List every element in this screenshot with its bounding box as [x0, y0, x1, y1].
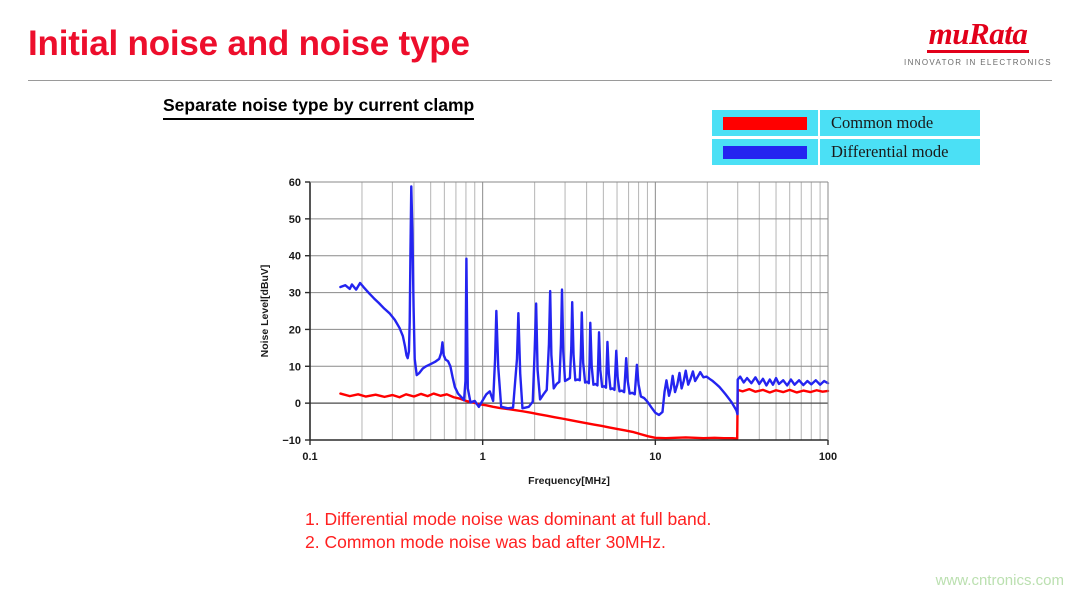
murata-logo: muRata INNOVATOR IN ELECTRONICS: [898, 18, 1058, 67]
svg-text:Noise Level[dBuV]: Noise Level[dBuV]: [259, 265, 271, 358]
svg-text:30: 30: [289, 288, 301, 300]
finding-2: 2. Common mode noise was bad after 30MHz…: [305, 531, 711, 554]
svg-text:10: 10: [289, 361, 301, 373]
slide-root: Initial noise and noise type muRata INNO…: [0, 0, 1080, 597]
svg-text:40: 40: [289, 251, 301, 263]
svg-text:1: 1: [480, 451, 486, 463]
svg-text:20: 20: [289, 324, 301, 336]
svg-text:100: 100: [819, 451, 837, 463]
site-watermark: www.cntronics.com: [936, 572, 1064, 589]
legend-label-common-mode: Common mode: [820, 113, 933, 133]
logo-wordmark: muRata: [927, 18, 1030, 53]
legend-swatch-differential-mode: [723, 146, 807, 159]
legend-swatch-cell: [712, 139, 820, 165]
svg-text:50: 50: [289, 214, 301, 226]
svg-text:60: 60: [289, 177, 301, 189]
svg-text:0: 0: [295, 398, 301, 410]
chart-legend: Common mode Differential mode: [712, 110, 980, 168]
svg-text:−10: −10: [282, 435, 301, 447]
title-divider: [28, 80, 1052, 81]
svg-text:Frequency[MHz]: Frequency[MHz]: [528, 475, 610, 486]
svg-text:0.1: 0.1: [302, 451, 317, 463]
noise-spectrum-chart: 6050403020100−100.1110100Frequency[MHz]N…: [252, 166, 842, 486]
section-subtitle: Separate noise type by current clamp: [163, 95, 474, 120]
legend-item-differential-mode: Differential mode: [712, 139, 980, 165]
page-title: Initial noise and noise type: [28, 24, 470, 64]
finding-1: 1. Differential mode noise was dominant …: [305, 508, 711, 531]
svg-text:10: 10: [649, 451, 661, 463]
legend-swatch-common-mode: [723, 117, 807, 130]
logo-tagline: INNOVATOR IN ELECTRONICS: [898, 58, 1058, 67]
findings-list: 1. Differential mode noise was dominant …: [305, 508, 711, 554]
legend-swatch-cell: [712, 110, 820, 136]
legend-item-common-mode: Common mode: [712, 110, 980, 136]
chart-svg: 6050403020100−100.1110100Frequency[MHz]N…: [252, 166, 842, 486]
legend-label-differential-mode: Differential mode: [820, 142, 948, 162]
